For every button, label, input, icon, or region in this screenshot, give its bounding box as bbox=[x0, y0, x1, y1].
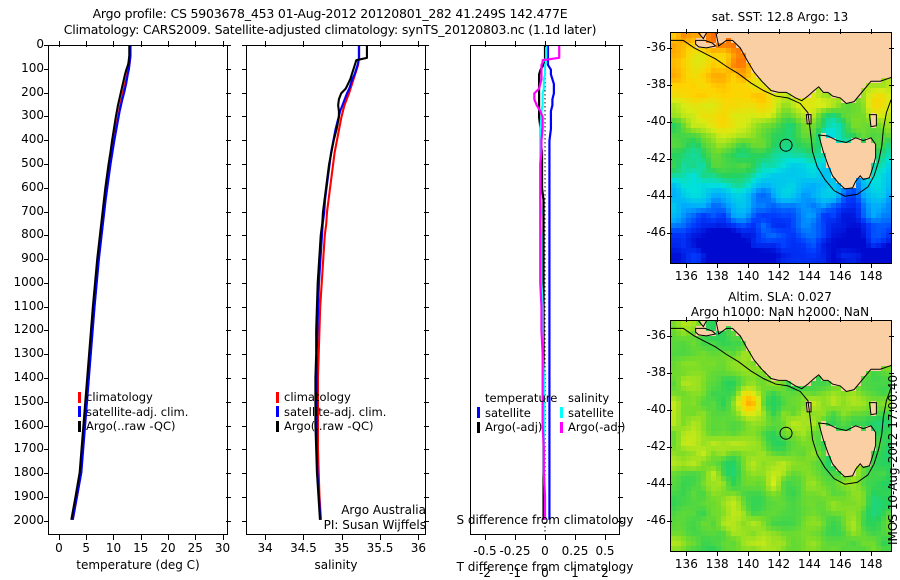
legend-color-swatch bbox=[560, 407, 563, 418]
axis-tick bbox=[226, 473, 231, 474]
axis-tick bbox=[226, 140, 231, 141]
depth-tick-label: 2000 bbox=[2, 513, 44, 527]
axis-tick bbox=[44, 307, 49, 308]
axis-tick bbox=[141, 534, 142, 540]
axis-tick bbox=[424, 449, 429, 450]
axis-tick bbox=[618, 188, 623, 189]
axis-tick bbox=[667, 336, 672, 337]
axis-tick bbox=[889, 196, 894, 197]
axis-tick bbox=[223, 534, 224, 540]
sla-latitude-tick-label: -42 bbox=[630, 439, 666, 453]
axis-tick bbox=[44, 235, 49, 236]
axis-tick bbox=[424, 330, 429, 331]
legend-label: satellite-adj. clim. bbox=[284, 405, 386, 420]
legend-color-swatch bbox=[78, 421, 81, 432]
axis-tick bbox=[748, 317, 749, 322]
depth-tick-label: 1500 bbox=[2, 394, 44, 408]
axis-tick bbox=[226, 235, 231, 236]
axis-tick bbox=[226, 426, 231, 427]
axis-tick bbox=[424, 402, 429, 403]
axis-tick bbox=[242, 426, 247, 427]
difference-salinity-legend-item: Argo(-adj) bbox=[560, 420, 625, 435]
title-line-1: Argo profile: CS 5903678_453 01-Aug-2012… bbox=[0, 6, 660, 22]
sla-map-image bbox=[671, 321, 891, 551]
axis-tick bbox=[242, 402, 247, 403]
axis-tick bbox=[424, 45, 429, 46]
axis-tick bbox=[86, 534, 87, 540]
sst-map-image bbox=[671, 33, 891, 263]
depth-tick-label: 900 bbox=[2, 251, 44, 265]
axis-tick bbox=[840, 263, 841, 268]
difference-temperature-legend: temperaturesatelliteArgo(-adj) bbox=[477, 391, 557, 435]
axis-tick bbox=[424, 283, 429, 284]
axis-tick bbox=[226, 93, 231, 94]
sla-map-title: Altim. SLA: 0.027 Argo h1000: NaN h2000:… bbox=[665, 290, 895, 320]
legend-label: climatology bbox=[86, 390, 153, 405]
axis-tick bbox=[424, 69, 429, 70]
temperature-legend: climatologysatellite-adj. clim.Argo(..ra… bbox=[78, 390, 188, 434]
axis-tick bbox=[545, 534, 546, 540]
axis-tick bbox=[779, 551, 780, 556]
axis-tick bbox=[113, 41, 114, 47]
axis-tick bbox=[779, 317, 780, 322]
axis-tick bbox=[779, 263, 780, 268]
salinity-difference-axis-label: S difference from climatology bbox=[455, 513, 635, 527]
axis-tick bbox=[667, 484, 672, 485]
depth-tick-label: 100 bbox=[2, 61, 44, 75]
salinity-legend-item: Argo(..raw -QC) bbox=[276, 419, 386, 434]
axis-tick bbox=[809, 551, 810, 556]
sla-map-title-line-1: Altim. SLA: 0.027 bbox=[665, 290, 895, 305]
difference-salinity-legend-item: satellite bbox=[560, 406, 625, 421]
axis-tick bbox=[424, 140, 429, 141]
legend-color-swatch bbox=[477, 407, 480, 418]
axis-tick bbox=[618, 473, 623, 474]
axis-tick bbox=[717, 551, 718, 556]
legend-label: satellite bbox=[485, 406, 531, 421]
axis-tick bbox=[226, 45, 231, 46]
argo-credit-line-1: Argo Australia bbox=[246, 503, 426, 518]
axis-tick bbox=[44, 283, 49, 284]
axis-tick bbox=[424, 212, 429, 213]
axis-tick bbox=[618, 283, 623, 284]
axis-tick bbox=[889, 233, 894, 234]
axis-tick bbox=[242, 283, 247, 284]
axis-tick bbox=[618, 45, 623, 46]
axis-tick bbox=[44, 330, 49, 331]
axis-tick bbox=[242, 497, 247, 498]
temperature-axis-label: temperature (deg C) bbox=[48, 558, 228, 572]
axis-tick bbox=[113, 534, 114, 540]
axis-tick bbox=[545, 41, 546, 47]
axis-tick bbox=[242, 330, 247, 331]
depth-tick-label: 1800 bbox=[2, 465, 44, 479]
axis-tick bbox=[226, 449, 231, 450]
axis-tick bbox=[44, 259, 49, 260]
axis-tick bbox=[242, 140, 247, 141]
sst-latitude-tick-label: -36 bbox=[630, 40, 666, 54]
axis-tick bbox=[226, 402, 231, 403]
sst-latitude-tick-label: -42 bbox=[630, 151, 666, 165]
legend-color-swatch bbox=[78, 406, 81, 417]
temperature-profile-panel[interactable] bbox=[48, 45, 228, 535]
axis-tick bbox=[424, 473, 429, 474]
sla-latitude-tick-label: -46 bbox=[630, 513, 666, 527]
axis-tick bbox=[871, 551, 872, 556]
axis-tick bbox=[485, 534, 486, 540]
axis-tick bbox=[618, 140, 623, 141]
legend-color-swatch bbox=[276, 421, 279, 432]
axis-tick bbox=[195, 41, 196, 47]
sla-map-panel[interactable] bbox=[670, 320, 892, 552]
sst-map-panel[interactable] bbox=[670, 32, 892, 264]
axis-tick bbox=[226, 188, 231, 189]
axis-tick bbox=[44, 449, 49, 450]
axis-tick bbox=[226, 164, 231, 165]
axis-tick bbox=[418, 534, 419, 540]
axis-tick bbox=[242, 212, 247, 213]
legend-color-swatch bbox=[560, 422, 563, 433]
depth-tick-label: 1700 bbox=[2, 441, 44, 455]
axis-tick bbox=[242, 235, 247, 236]
sst-map-title: sat. SST: 12.8 Argo: 13 bbox=[665, 10, 895, 25]
axis-tick bbox=[809, 263, 810, 268]
legend-label: Argo(-adj) bbox=[485, 420, 542, 435]
depth-tick-label: 1400 bbox=[2, 370, 44, 384]
title-line-2: Climatology: CARS2009. Satellite-adjuste… bbox=[0, 22, 660, 38]
temperature-legend-item: climatology bbox=[78, 390, 188, 405]
axis-tick bbox=[618, 212, 623, 213]
axis-tick bbox=[889, 336, 894, 337]
axis-tick bbox=[44, 93, 49, 94]
axis-tick bbox=[242, 449, 247, 450]
axis-tick bbox=[889, 85, 894, 86]
axis-tick bbox=[265, 534, 266, 540]
axis-tick bbox=[44, 164, 49, 165]
depth-tick-label: 800 bbox=[2, 227, 44, 241]
axis-tick bbox=[226, 330, 231, 331]
axis-tick bbox=[686, 551, 687, 556]
axis-tick bbox=[242, 164, 247, 165]
axis-tick bbox=[424, 307, 429, 308]
axis-tick bbox=[380, 534, 381, 540]
difference-salinity-legend: salinitysatelliteArgo(-adj) bbox=[560, 391, 625, 435]
axis-tick bbox=[242, 69, 247, 70]
axis-tick bbox=[44, 140, 49, 141]
axis-tick bbox=[242, 307, 247, 308]
imos-timestamp: IMOS 10-Aug-2012 17:00:40 bbox=[886, 375, 900, 545]
argo-credit: Argo Australia PI: Susan Wijffels bbox=[246, 503, 426, 533]
axis-tick bbox=[44, 212, 49, 213]
axis-tick bbox=[226, 116, 231, 117]
axis-tick bbox=[618, 378, 623, 379]
depth-tick-label: 200 bbox=[2, 85, 44, 99]
axis-tick bbox=[424, 354, 429, 355]
axis-tick bbox=[618, 93, 623, 94]
salinity-plot-area bbox=[247, 46, 425, 534]
axis-tick bbox=[424, 235, 429, 236]
difference-profile-panel[interactable] bbox=[470, 45, 620, 535]
axis-tick bbox=[618, 69, 623, 70]
axis-tick bbox=[226, 69, 231, 70]
axis-tick bbox=[667, 233, 672, 234]
axis-tick bbox=[424, 497, 429, 498]
legend-label: satellite-adj. clim. bbox=[86, 405, 188, 420]
axis-tick bbox=[889, 48, 894, 49]
axis-tick bbox=[618, 259, 623, 260]
axis-tick bbox=[515, 534, 516, 540]
axis-tick bbox=[667, 410, 672, 411]
difference-salinity-legend-heading: salinity bbox=[560, 391, 625, 406]
axis-tick bbox=[424, 164, 429, 165]
axis-tick bbox=[303, 534, 304, 540]
depth-tick-label: 700 bbox=[2, 204, 44, 218]
axis-tick bbox=[44, 497, 49, 498]
axis-tick bbox=[618, 497, 623, 498]
axis-tick bbox=[809, 317, 810, 322]
axis-tick bbox=[242, 259, 247, 260]
sla-latitude-tick-label: -38 bbox=[630, 365, 666, 379]
axis-tick bbox=[242, 45, 247, 46]
legend-color-swatch bbox=[276, 406, 279, 417]
depth-tick-label: 300 bbox=[2, 108, 44, 122]
sst-latitude-tick-label: -46 bbox=[630, 225, 666, 239]
axis-tick bbox=[686, 29, 687, 34]
axis-tick bbox=[424, 116, 429, 117]
axis-tick bbox=[226, 307, 231, 308]
axis-tick bbox=[717, 29, 718, 34]
salinity-difference-tick-label: 0.5 bbox=[581, 544, 629, 558]
axis-tick bbox=[242, 188, 247, 189]
legend-color-swatch bbox=[276, 392, 279, 403]
axis-tick bbox=[618, 330, 623, 331]
depth-tick-label: 500 bbox=[2, 156, 44, 170]
difference-temperature-legend-item: satellite bbox=[477, 406, 557, 421]
axis-tick bbox=[223, 41, 224, 47]
depth-tick-label: 1900 bbox=[2, 489, 44, 503]
axis-tick bbox=[342, 41, 343, 47]
axis-tick bbox=[195, 534, 196, 540]
difference-temperature-legend-item: Argo(-adj) bbox=[477, 420, 557, 435]
legend-color-swatch bbox=[477, 422, 480, 433]
difference-plot-area bbox=[471, 46, 619, 534]
sla-longitude-tick-label: 148 bbox=[851, 557, 891, 571]
axis-tick bbox=[840, 29, 841, 34]
sla-latitude-tick-label: -44 bbox=[630, 476, 666, 490]
axis-tick bbox=[424, 259, 429, 260]
axis-tick bbox=[667, 373, 672, 374]
sst-latitude-tick-label: -40 bbox=[630, 114, 666, 128]
axis-tick bbox=[889, 122, 894, 123]
axis-tick bbox=[485, 41, 486, 47]
axis-tick bbox=[871, 29, 872, 34]
sla-latitude-tick-label: -40 bbox=[630, 402, 666, 416]
sst-latitude-tick-label: -44 bbox=[630, 188, 666, 202]
axis-tick bbox=[342, 534, 343, 540]
axis-tick bbox=[667, 196, 672, 197]
axis-tick bbox=[59, 41, 60, 47]
sla-latitude-tick-label: -36 bbox=[630, 328, 666, 342]
axis-tick bbox=[44, 473, 49, 474]
salinity-legend-item: satellite-adj. clim. bbox=[276, 405, 386, 420]
depth-tick-label: 1300 bbox=[2, 346, 44, 360]
axis-tick bbox=[840, 317, 841, 322]
axis-tick bbox=[44, 521, 49, 522]
axis-tick bbox=[667, 447, 672, 448]
depth-tick-label: 1100 bbox=[2, 299, 44, 313]
depth-tick-label: 1000 bbox=[2, 275, 44, 289]
legend-color-swatch bbox=[78, 392, 81, 403]
temperature-tick-label: 30 bbox=[201, 541, 245, 555]
axis-tick bbox=[424, 426, 429, 427]
axis-tick bbox=[424, 93, 429, 94]
axis-tick bbox=[667, 122, 672, 123]
axis-tick bbox=[667, 48, 672, 49]
axis-tick bbox=[265, 41, 266, 47]
axis-tick bbox=[86, 41, 87, 47]
axis-tick bbox=[748, 263, 749, 268]
axis-tick bbox=[667, 521, 672, 522]
axis-tick bbox=[380, 41, 381, 47]
legend-label: climatology bbox=[284, 390, 351, 405]
axis-tick bbox=[226, 497, 231, 498]
axis-tick bbox=[242, 473, 247, 474]
axis-tick bbox=[424, 378, 429, 379]
axis-tick bbox=[44, 69, 49, 70]
legend-label: Argo(..raw -QC) bbox=[284, 419, 374, 434]
axis-tick bbox=[618, 449, 623, 450]
axis-tick bbox=[418, 41, 419, 47]
axis-tick bbox=[618, 235, 623, 236]
axis-tick bbox=[303, 41, 304, 47]
salinity-legend: climatologysatellite-adj. clim.Argo(..ra… bbox=[276, 390, 386, 434]
axis-tick bbox=[618, 116, 623, 117]
axis-tick bbox=[717, 317, 718, 322]
temperature-legend-item: Argo(..raw -QC) bbox=[78, 419, 188, 434]
axis-tick bbox=[748, 29, 749, 34]
axis-tick bbox=[242, 354, 247, 355]
axis-tick bbox=[605, 534, 606, 540]
axis-tick bbox=[44, 45, 49, 46]
legend-label: satellite bbox=[568, 406, 614, 421]
axis-tick bbox=[871, 317, 872, 322]
axis-tick bbox=[168, 41, 169, 47]
temperature-difference-axis-label: T difference from climatology bbox=[455, 560, 635, 574]
axis-tick bbox=[840, 551, 841, 556]
axis-tick bbox=[871, 263, 872, 268]
axis-tick bbox=[575, 534, 576, 540]
axis-tick bbox=[226, 283, 231, 284]
axis-tick bbox=[59, 534, 60, 540]
axis-tick bbox=[686, 317, 687, 322]
temperature-legend-item: satellite-adj. clim. bbox=[78, 405, 188, 420]
axis-tick bbox=[424, 188, 429, 189]
axis-tick bbox=[575, 41, 576, 47]
depth-tick-label: 1600 bbox=[2, 418, 44, 432]
axis-tick bbox=[141, 41, 142, 47]
axis-tick bbox=[605, 41, 606, 47]
page-title: Argo profile: CS 5903678_453 01-Aug-2012… bbox=[0, 6, 660, 38]
salinity-axis-label: salinity bbox=[246, 558, 426, 572]
axis-tick bbox=[618, 354, 623, 355]
axis-tick bbox=[44, 354, 49, 355]
axis-tick bbox=[686, 263, 687, 268]
sst-latitude-tick-label: -38 bbox=[630, 77, 666, 91]
axis-tick bbox=[515, 41, 516, 47]
axis-tick bbox=[748, 551, 749, 556]
depth-tick-label: 600 bbox=[2, 180, 44, 194]
legend-label: Argo(..raw -QC) bbox=[86, 419, 176, 434]
axis-tick bbox=[226, 259, 231, 260]
depth-tick-label: 400 bbox=[2, 132, 44, 146]
axis-tick bbox=[889, 159, 894, 160]
axis-tick bbox=[44, 378, 49, 379]
sst-longitude-tick-label: 148 bbox=[851, 269, 891, 283]
axis-tick bbox=[168, 534, 169, 540]
axis-tick bbox=[667, 159, 672, 160]
salinity-tick-label: 36 bbox=[394, 541, 442, 555]
axis-tick bbox=[226, 378, 231, 379]
axis-tick bbox=[44, 426, 49, 427]
axis-tick bbox=[717, 263, 718, 268]
axis-tick bbox=[226, 521, 231, 522]
axis-tick bbox=[44, 188, 49, 189]
axis-tick bbox=[226, 212, 231, 213]
axis-tick bbox=[242, 93, 247, 94]
axis-tick bbox=[226, 354, 231, 355]
axis-tick bbox=[44, 116, 49, 117]
axis-tick bbox=[618, 164, 623, 165]
axis-tick bbox=[242, 378, 247, 379]
salinity-profile-panel[interactable] bbox=[246, 45, 426, 535]
legend-label: Argo(-adj) bbox=[568, 420, 625, 435]
axis-tick bbox=[667, 85, 672, 86]
axis-tick bbox=[44, 402, 49, 403]
difference-temperature-legend-heading: temperature bbox=[477, 391, 557, 406]
salinity-legend-item: climatology bbox=[276, 390, 386, 405]
depth-tick-label: 1200 bbox=[2, 322, 44, 336]
axis-tick bbox=[242, 116, 247, 117]
depth-tick-label: 0 bbox=[2, 37, 44, 51]
axis-tick bbox=[809, 29, 810, 34]
axis-tick bbox=[618, 307, 623, 308]
argo-credit-line-2: PI: Susan Wijffels bbox=[246, 518, 426, 533]
axis-tick bbox=[779, 29, 780, 34]
temperature-plot-area bbox=[49, 46, 227, 534]
